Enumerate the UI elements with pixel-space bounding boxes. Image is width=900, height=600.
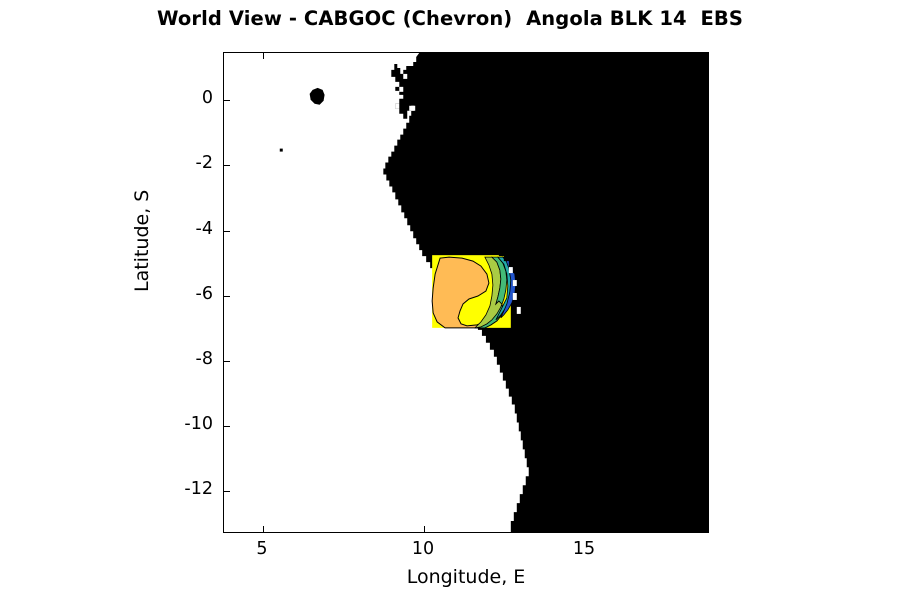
coastline-notch-congo [409, 106, 414, 111]
x-tick-label-10: 10 [412, 539, 434, 559]
x-tick-10 [424, 526, 425, 532]
x-tick-15 [585, 526, 586, 532]
ebs-contour-overlay [432, 242, 562, 330]
coastline-notch-gabon-3 [395, 104, 399, 109]
page-title: World View - CABGOC (Chevron) Angola BLK… [0, 7, 900, 30]
map-canvas [224, 53, 708, 532]
y-tick--4 [224, 231, 230, 232]
annobon-island [280, 149, 283, 152]
x-tick-top-10 [424, 53, 425, 59]
coastal-ocean-sliver-3 [513, 293, 517, 300]
coastline-notch-gabon-1 [403, 74, 407, 79]
y-tick--6 [224, 296, 230, 297]
sao-tome-island [310, 88, 325, 105]
y-tick-0 [224, 100, 230, 101]
y-tick--10 [224, 426, 230, 427]
y-tick-right--10 [702, 426, 708, 427]
x-tick-top-5 [263, 53, 264, 59]
y-tick-right--4 [702, 231, 708, 232]
y-tick--8 [224, 361, 230, 362]
y-axis-title: Latitude, S [131, 190, 153, 292]
x-axis-title: Longitude, E [223, 566, 709, 588]
y-tick--2 [224, 165, 230, 166]
y-tick-right--12 [702, 491, 708, 492]
x-tick-label-5: 5 [256, 539, 267, 559]
figure-canvas: World View - CABGOC (Chevron) Angola BLK… [0, 0, 900, 600]
y-tick-right--2 [702, 165, 708, 166]
y-tick-right--8 [702, 361, 708, 362]
map-plot-area[interactable] [223, 52, 709, 533]
x-tick-5 [263, 526, 264, 532]
coastal-ocean-sliver-2 [513, 280, 517, 286]
x-tick-top-15 [585, 53, 586, 59]
x-tick-label-15: 15 [573, 539, 595, 559]
world-map-svg [224, 53, 708, 532]
y-tick--12 [224, 491, 230, 492]
coastal-ocean-sliver-1 [509, 267, 513, 273]
coastal-ocean-sliver-4 [517, 307, 521, 314]
coastline-notch-gabon-2 [399, 87, 403, 92]
y-tick-right--6 [702, 296, 708, 297]
y-tick-right-0 [702, 100, 708, 101]
